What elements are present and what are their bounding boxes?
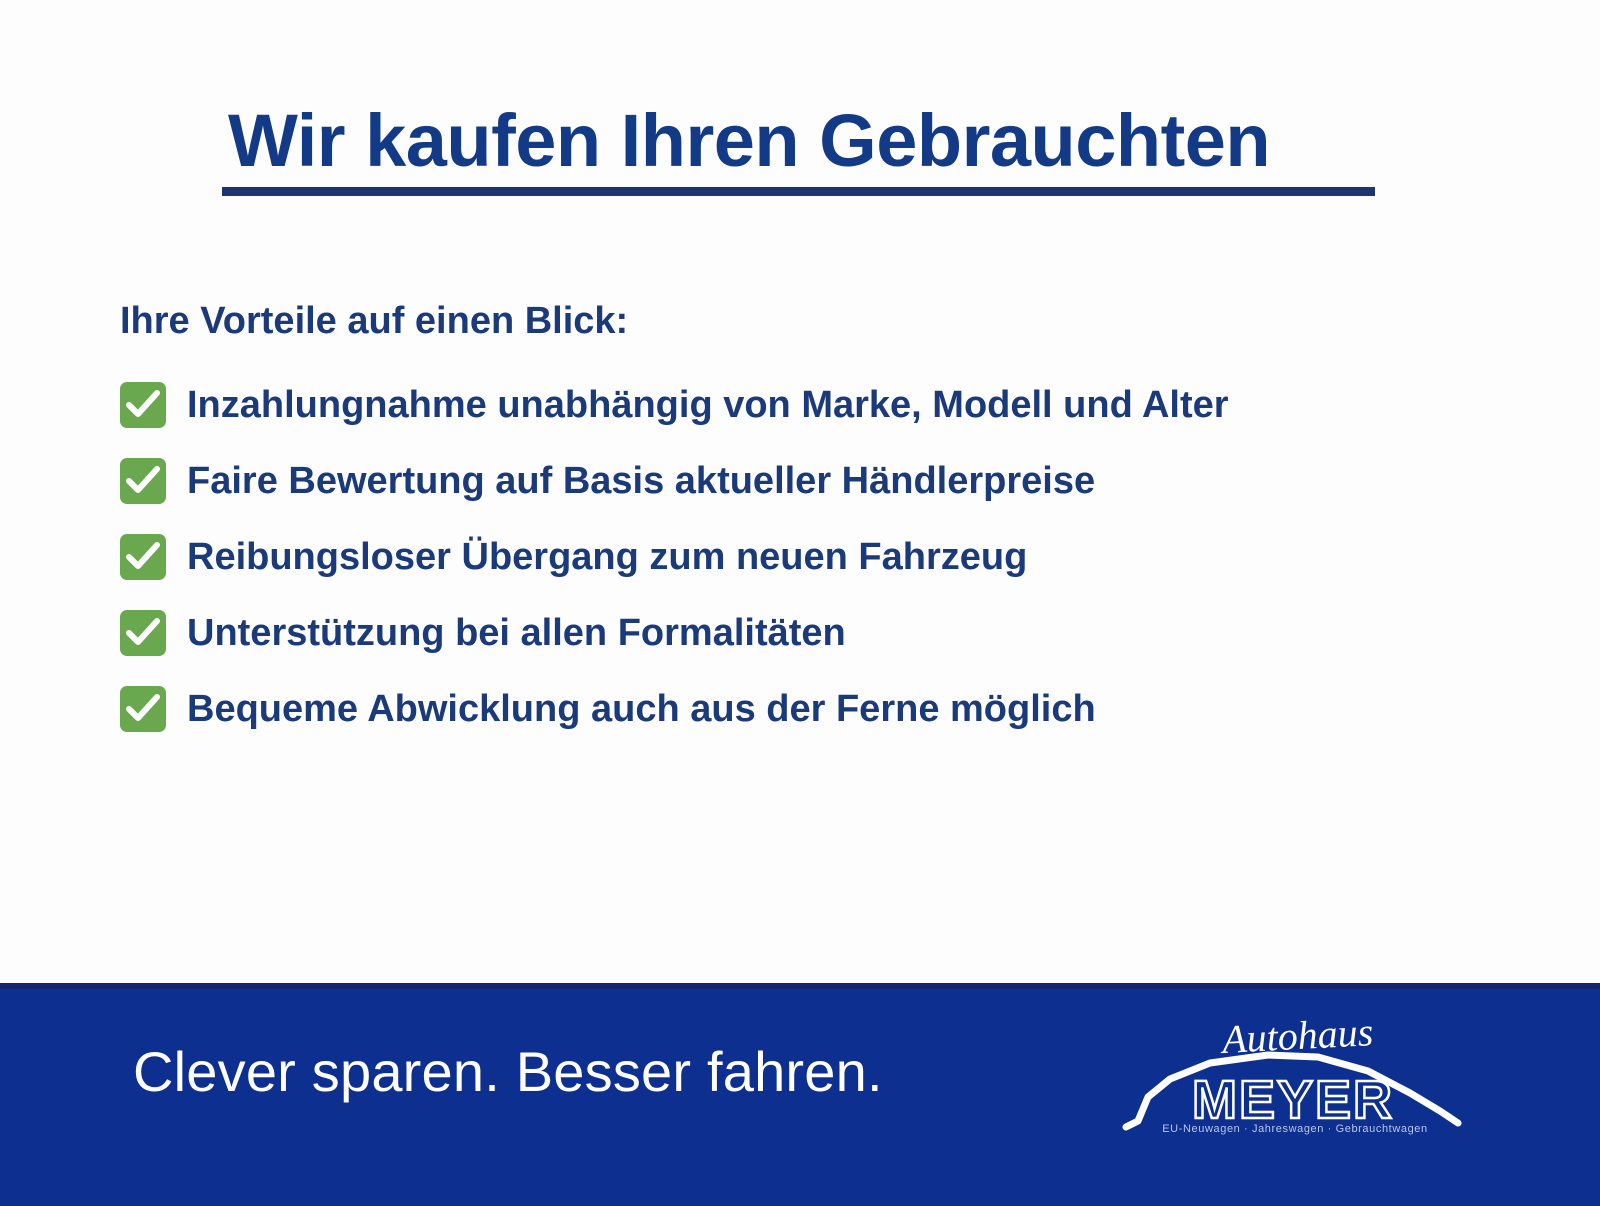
list-item: Reibungsloser Übergang zum neuen Fahrzeu… bbox=[120, 527, 1520, 587]
list-item: Unterstützung bei allen Formalitäten bbox=[120, 603, 1520, 663]
headline-block: Wir kaufen Ihren Gebrauchten bbox=[222, 104, 1382, 196]
list-item-label: Inzahlungnahme unabhängig von Marke, Mod… bbox=[187, 386, 1229, 424]
headline-underline bbox=[222, 187, 1375, 196]
list-item: Bequeme Abwicklung auch aus der Ferne mö… bbox=[120, 679, 1520, 739]
benefits-intro-label: Ihre Vorteile auf einen Blick: bbox=[120, 300, 628, 343]
footer-banner: Clever sparen. Besser fahren. Autohaus M… bbox=[0, 983, 1600, 1206]
green-check-icon bbox=[120, 382, 166, 428]
logo-wordmark: MEYER bbox=[1138, 1073, 1448, 1127]
green-check-icon bbox=[120, 458, 166, 504]
dealer-logo: Autohaus MEYER EU-Neuwagen · Jahreswagen… bbox=[1118, 1001, 1468, 1151]
slogan-text: Clever sparen. Besser fahren. bbox=[133, 1039, 883, 1104]
green-check-icon bbox=[120, 686, 166, 732]
list-item: Faire Bewertung auf Basis aktueller Händ… bbox=[120, 451, 1520, 511]
advertisement-root: Wir kaufen Ihren Gebrauchten Ihre Vortei… bbox=[0, 0, 1600, 1200]
list-item-label: Faire Bewertung auf Basis aktueller Händ… bbox=[187, 462, 1095, 500]
list-item: Inzahlungnahme unabhängig von Marke, Mod… bbox=[120, 375, 1520, 435]
list-item-label: Bequeme Abwicklung auch aus der Ferne mö… bbox=[187, 690, 1096, 728]
list-item-label: Reibungsloser Übergang zum neuen Fahrzeu… bbox=[187, 538, 1027, 576]
logo-tagline: EU-Neuwagen · Jahreswagen · Gebrauchtwag… bbox=[1130, 1123, 1460, 1135]
logo-script-autohaus: Autohaus bbox=[1148, 1003, 1448, 1067]
benefits-list: Inzahlungnahme unabhängig von Marke, Mod… bbox=[120, 375, 1520, 755]
green-check-icon bbox=[120, 610, 166, 656]
list-item-label: Unterstützung bei allen Formalitäten bbox=[187, 614, 846, 652]
page-title: Wir kaufen Ihren Gebrauchten bbox=[222, 104, 1382, 178]
svg-text:Autohaus: Autohaus bbox=[1218, 1009, 1374, 1062]
green-check-icon bbox=[120, 534, 166, 580]
